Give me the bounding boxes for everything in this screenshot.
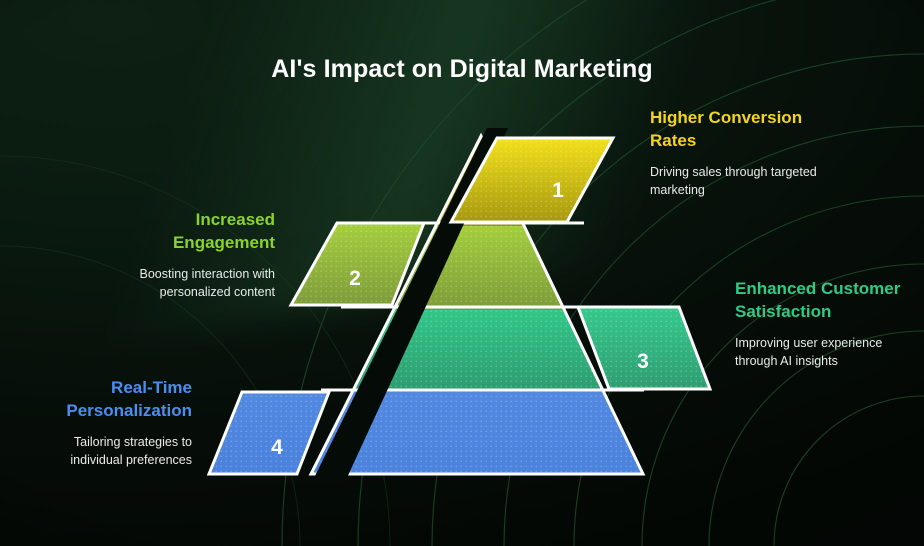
- callout-description-2: Boosting interaction with personalized c…: [95, 265, 275, 301]
- callout-number-3: 3: [637, 350, 649, 373]
- callout-heading-3: Enhanced Customer Satisfaction: [735, 277, 915, 323]
- callout-description-1: Driving sales through targeted marketing: [650, 163, 840, 199]
- callout-number-4: 4: [271, 436, 283, 459]
- callout-label-1: Higher Conversion Rates Driving sales th…: [650, 106, 840, 199]
- callout-heading-2: Increased Engagement: [95, 208, 275, 254]
- callout-label-3: Enhanced Customer Satisfaction Improving…: [735, 277, 915, 370]
- callout-description-3: Improving user experience through AI ins…: [735, 334, 915, 370]
- callout-number-1: 1: [552, 179, 564, 202]
- infographic-canvas: AI's Impact on Digital Marketing: [0, 0, 924, 546]
- callout-number-2: 2: [349, 267, 361, 290]
- callout-heading-1: Higher Conversion Rates: [650, 106, 840, 152]
- callout-description-4: Tailoring strategies to individual prefe…: [20, 433, 192, 469]
- callout-label-4: Real-Time Personalization Tailoring stra…: [20, 376, 192, 469]
- callout-heading-4: Real-Time Personalization: [20, 376, 192, 422]
- callout-label-2: Increased Engagement Boosting interactio…: [95, 208, 275, 301]
